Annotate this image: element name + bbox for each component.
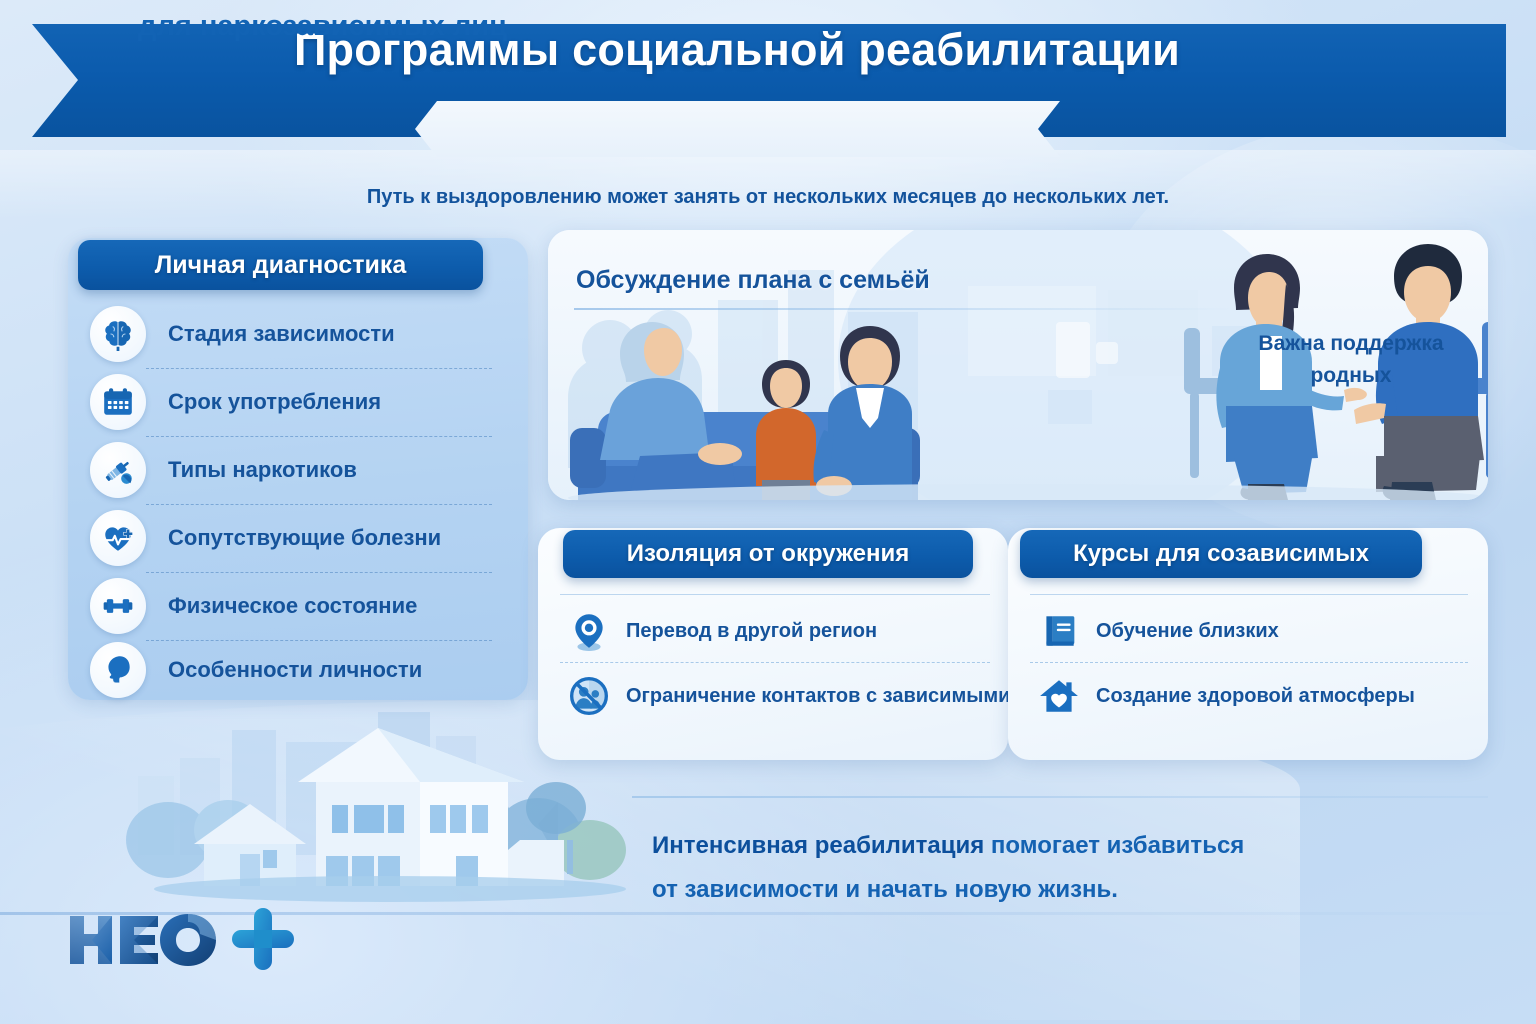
codependent-top-rule bbox=[1030, 594, 1468, 595]
heart-plus-icon bbox=[90, 510, 146, 566]
diagnostics-item-1[interactable]: Срок употребления bbox=[90, 370, 505, 434]
infographic-canvas: Программы социальной реабилитации для на… bbox=[0, 0, 1536, 1024]
subtitle-ribbon bbox=[415, 101, 1060, 157]
codependent-item-0[interactable]: Обучение близких bbox=[1036, 600, 1279, 662]
diagnostics-item-label: Сопутствующие болезни bbox=[168, 525, 441, 551]
diagnostics-item-2[interactable]: Типы наркотиков bbox=[90, 438, 505, 502]
isolation-item-0[interactable]: Перевод в другой регион bbox=[566, 600, 877, 662]
brand-logo bbox=[66, 908, 326, 972]
isolation-heading: Изоляция от окружения bbox=[563, 530, 973, 578]
diagnostics-item-0[interactable]: Стадия зависимости bbox=[90, 302, 505, 366]
isolation-item-label: Ограничение контактов с зависимыми bbox=[626, 685, 1010, 708]
diagnostics-item-4[interactable]: Физическое состояние bbox=[90, 574, 505, 638]
diagnostics-item-label: Срок употребления bbox=[168, 389, 381, 415]
diagnostics-heading: Личная диагностика bbox=[78, 240, 483, 290]
family-discussion-card: Обсуждение плана с семьёй Важна поддержк… bbox=[548, 230, 1488, 500]
home-heart-icon bbox=[1036, 673, 1082, 719]
hero-card-title: Обсуждение плана с семьёй bbox=[576, 266, 930, 295]
list-divider bbox=[146, 436, 492, 437]
closing-rest: помогает избавиться bbox=[984, 832, 1244, 859]
isolation-item-1[interactable]: Ограничение контактов с зависимыми bbox=[566, 665, 1010, 727]
list-divider bbox=[146, 368, 492, 369]
diagnostics-item-label: Физическое состояние bbox=[168, 593, 417, 619]
hero-title-rule bbox=[574, 308, 1234, 310]
diagnostics-item-label: Типы наркотиков bbox=[168, 457, 357, 483]
codependent-item-1[interactable]: Создание здоровой атмосферы bbox=[1036, 665, 1415, 727]
codependent-heading: Курсы для созависимых bbox=[1020, 530, 1422, 578]
background-sheen-band bbox=[0, 150, 1536, 220]
book-icon bbox=[1036, 608, 1082, 654]
syringe-icon bbox=[90, 442, 146, 498]
closing-rule bbox=[632, 796, 1488, 798]
isolation-divider bbox=[560, 662, 990, 663]
brain-icon bbox=[90, 306, 146, 362]
dumbbell-icon bbox=[90, 578, 146, 634]
hero-card-note: Важна поддержка родных bbox=[1236, 328, 1466, 391]
page-subtitle: для наркозависимых лиц bbox=[0, 10, 645, 43]
list-divider bbox=[146, 504, 492, 505]
codependent-item-label: Создание здоровой атмосферы bbox=[1096, 685, 1415, 708]
codependent-item-label: Обучение близких bbox=[1096, 620, 1279, 643]
diagnostics-item-label: Особенности личности bbox=[168, 657, 422, 683]
closing-strong: Интенсивная реабилитация bbox=[652, 832, 984, 859]
closing-line-2: от зависимости и начать новую жизнь. bbox=[652, 876, 1118, 903]
diagnostics-item-5[interactable]: Особенности личности bbox=[90, 638, 505, 702]
location-pin-icon bbox=[566, 608, 612, 654]
list-divider bbox=[146, 572, 492, 573]
lede-text: Путь к выздоровлению может занять от нес… bbox=[0, 186, 1536, 209]
isolation-item-label: Перевод в другой регион bbox=[626, 620, 877, 643]
calendar-icon bbox=[90, 374, 146, 430]
no-group-icon bbox=[566, 673, 612, 719]
head-profile-icon bbox=[90, 642, 146, 698]
isolation-top-rule bbox=[560, 594, 990, 595]
diagnostics-item-label: Стадия зависимости bbox=[168, 321, 395, 347]
closing-statement: Интенсивная реабилитация помогает избави… bbox=[652, 824, 1482, 913]
diagnostics-item-3[interactable]: Сопутствующие болезни bbox=[90, 506, 505, 570]
codependent-divider bbox=[1030, 662, 1468, 663]
